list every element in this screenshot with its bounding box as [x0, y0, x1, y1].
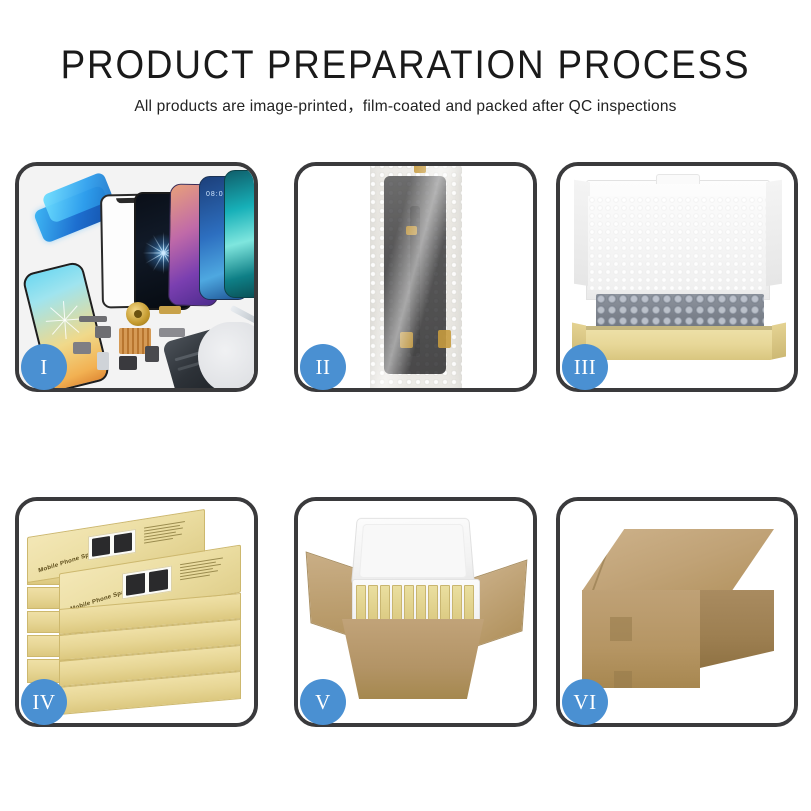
plastic-sheen-overlay: [370, 166, 462, 388]
bubble-wrap-bag-icon: [370, 166, 462, 388]
box-window-1: [88, 529, 136, 561]
step-panel-6: VI: [556, 497, 798, 727]
speaker-part-icon: [79, 316, 107, 322]
button-part-icon: [119, 356, 137, 370]
product-preparation-process-page: PRODUCT PREPARATION PROCESS All products…: [0, 0, 811, 811]
connector-part-icon: [159, 328, 185, 337]
step-1-numeral: I: [40, 355, 48, 380]
carton-tape-icon: [614, 671, 632, 688]
carton-tape-icon: [610, 617, 632, 641]
step-5-badge: V: [300, 679, 346, 725]
hand-icon: [198, 322, 254, 388]
box-spec-text: [144, 520, 190, 545]
step-2-numeral: II: [316, 355, 331, 380]
step-4-badge: IV: [21, 679, 67, 725]
gold-box-tray-icon: [584, 326, 774, 360]
step-3-badge: III: [562, 344, 608, 390]
vibration-motor-icon: [126, 302, 150, 326]
step-1-badge: I: [21, 344, 67, 390]
step-panel-1: 08:08: [15, 162, 258, 392]
small-chip-icon: [145, 346, 159, 362]
step-2-badge: II: [300, 344, 346, 390]
carton-body-icon: [342, 619, 484, 699]
box-window-2: [122, 566, 172, 600]
step-5-numeral: V: [315, 690, 331, 715]
process-steps-grid: 08:08: [0, 0, 811, 811]
battery-connector-icon: [73, 342, 91, 354]
step-4-numeral: IV: [32, 690, 55, 715]
step-6-numeral: VI: [573, 690, 596, 715]
bubble-wrap-layer-icon: [596, 294, 764, 330]
white-foam-sheet-icon: [588, 196, 766, 290]
step-panel-4: Mobile Phone Spare Parts Mobile Phone Sp…: [15, 497, 258, 727]
step-3-numeral: III: [574, 355, 596, 380]
step-panel-5: V: [294, 497, 537, 727]
step-6-badge: VI: [562, 679, 608, 725]
teal-phone-icon: [224, 170, 254, 298]
camera-module-icon: [95, 326, 111, 338]
sim-tray-icon: [97, 352, 109, 370]
shipping-carton-icon: [582, 529, 774, 691]
flex-cable-icon: [159, 306, 181, 314]
step-panel-2: II: [294, 162, 537, 392]
box-spec-text: [180, 557, 228, 583]
foam-box-lid-icon: [351, 518, 475, 585]
step-panel-3: III: [556, 162, 798, 392]
